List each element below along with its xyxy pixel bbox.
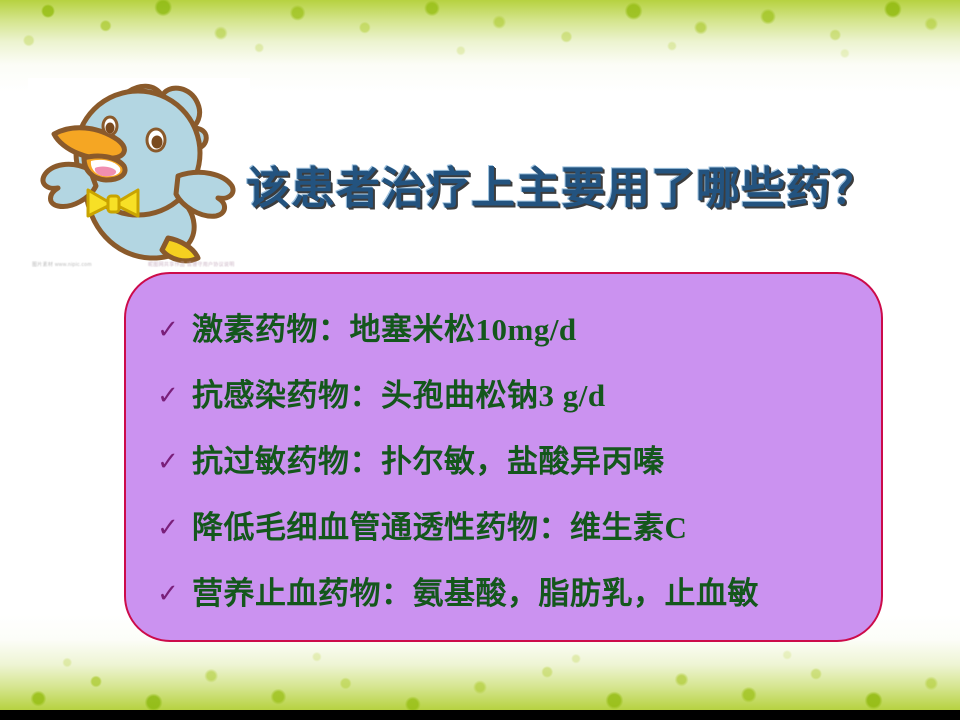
page-title: 该患者治疗上主要用了哪些药？ (246, 152, 936, 216)
list-item: ✓ 降低毛细血管通透性药物：维生素C (144, 502, 863, 568)
list-item-label: 抗过敏药物：扑尔敏，盐酸异丙嗪 (192, 436, 665, 481)
footer-black-bar (0, 710, 960, 720)
list-item-label: 抗感染药物：头孢曲松钠3 g/d (192, 370, 606, 415)
list-item-label: 降低毛细血管通透性药物：维生素C (192, 502, 687, 547)
mascot-image-frame: 图片素材 www.nipic.com 昵图网共享作品 请遵守用户协议说明 (28, 78, 250, 271)
check-icon: ✓ (144, 581, 192, 607)
check-icon: ✓ (144, 383, 192, 409)
check-icon: ✓ (144, 317, 192, 343)
presentation-slide: 图片素材 www.nipic.com 昵图网共享作品 请遵守用户协议说明 该患者… (0, 0, 960, 720)
list-item: ✓ 抗过敏药物：扑尔敏，盐酸异丙嗪 (144, 436, 863, 502)
list-item-label: 营养止血药物：氨基酸，脂肪乳，止血敏 (192, 568, 759, 613)
mascot-watermark-right: 昵图网共享作品 请遵守用户协议说明 (148, 262, 235, 268)
check-icon: ✓ (144, 515, 192, 541)
list-item-label: 激素药物：地塞米松10mg/d (192, 304, 577, 349)
check-icon: ✓ (144, 449, 192, 475)
medication-list-panel: ✓ 激素药物：地塞米松10mg/d ✓ 抗感染药物：头孢曲松钠3 g/d ✓ 抗… (124, 272, 883, 642)
duck-mascot-icon (28, 78, 250, 271)
list-item: ✓ 营养止血药物：氨基酸，脂肪乳，止血敏 (144, 568, 863, 634)
list-item: ✓ 激素药物：地塞米松10mg/d (144, 304, 863, 370)
mascot-watermark-left: 图片素材 www.nipic.com (32, 262, 92, 268)
list-item: ✓ 抗感染药物：头孢曲松钠3 g/d (144, 370, 863, 436)
